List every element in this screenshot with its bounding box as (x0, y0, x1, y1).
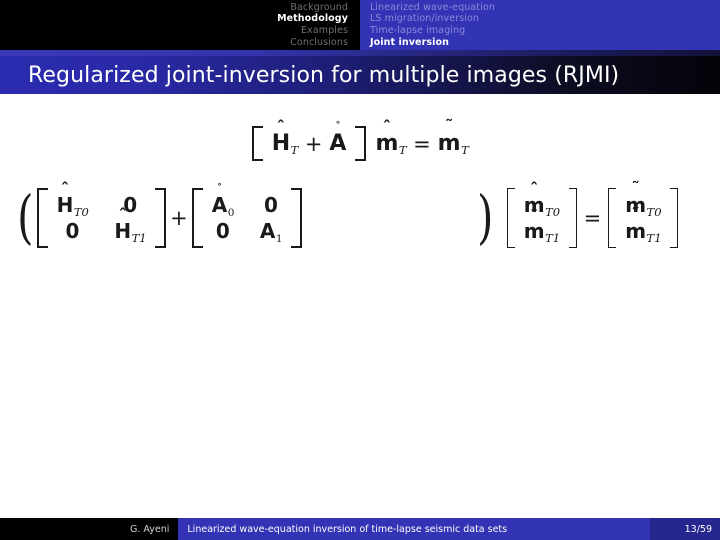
nav-sections-column: Background Methodology Examples Conclusi… (0, 0, 360, 50)
m-hat-symbol: ˆ m T (375, 131, 406, 156)
tilde-accent-icon: ˜ (631, 181, 640, 198)
nav-subsection-ls-migration-inversion[interactable]: LS migration/inversion (370, 13, 479, 25)
hat-accent-icon: ˆ (383, 120, 392, 137)
hat-accent-icon: ˆ (530, 182, 539, 199)
m-tilde-accented: ˜ m (625, 219, 646, 243)
equation-block-matrix-form: ( ˆ H T0 0 0 ˆ H T1 (0, 188, 720, 248)
vector-m-tilde: ˜ m T0 ˜ m T1 (608, 188, 678, 248)
header-navigation: Background Methodology Examples Conclusi… (0, 0, 720, 50)
equation-scalar-form: ˆ H T + ˚ A ˆ (0, 126, 720, 161)
ring-accent-icon: ˚ (265, 209, 271, 220)
cell-A-1: ˚ A 1 (260, 219, 282, 243)
subscript-T0: T0 (647, 205, 662, 219)
matrix-A: ˚ A 0 0 0 ˚ A 1 (192, 188, 302, 248)
A-accented: ˚ A (329, 131, 346, 156)
A-letter: A (329, 131, 346, 156)
vector-m-hat-cells: ˆ m T0 ˆ m T1 (515, 188, 569, 248)
subscript-T0: T0 (74, 205, 89, 219)
nav-section-methodology[interactable]: Methodology (277, 13, 348, 25)
tilde-accent-icon: ˜ (631, 207, 640, 224)
nav-subsections-column: Linearized wave-equation LS migration/in… (360, 0, 720, 50)
cell-H-T0: ˆ H T0 (57, 193, 89, 217)
matrix-A-right-bracket-icon (291, 188, 302, 248)
equation-scalar-row: ˆ H T + ˚ A ˆ (252, 126, 469, 161)
cell-m-tilde-T1: ˜ m T1 (625, 219, 661, 243)
vector-m-hat-right-bracket-icon (569, 188, 577, 248)
subscript-1: 1 (276, 233, 283, 245)
cell-zero-bottom-left: 0 (216, 219, 230, 243)
page-title: Regularized joint-inversion for multiple… (0, 63, 619, 88)
m-hat-subscript: T (399, 143, 407, 157)
vector-m-tilde-cells: ˜ m T0 ˜ m T1 (616, 188, 670, 248)
vector-m-hat-left-bracket-icon (507, 188, 515, 248)
nav-section-background[interactable]: Background (290, 2, 348, 14)
matrix-A-cells: ˚ A 0 0 0 ˚ A 1 (203, 188, 291, 248)
vector-m-tilde-right-bracket-icon (670, 188, 678, 248)
A-ring-symbol: ˚ A (329, 131, 346, 156)
subscript-T1: T1 (647, 231, 662, 245)
nav-subsection-time-lapse-imaging[interactable]: Time-lapse imaging (370, 25, 465, 37)
hat-accent-icon: ˆ (119, 208, 128, 225)
hat-accent-icon: ˆ (530, 208, 539, 225)
m-hat-accented: ˆ m (524, 219, 545, 243)
H-hat-symbol: ˆ H T (272, 131, 298, 156)
m-tilde-subscript: T (461, 143, 469, 157)
nav-section-examples[interactable]: Examples (301, 25, 348, 37)
H-plus-A-group: ˆ H T + ˚ A (272, 131, 347, 156)
footer-presentation-title: Linearized wave-equation inversion of ti… (178, 518, 650, 540)
footer-author: G. Ayeni (130, 518, 178, 540)
m-hat-accented: ˆ m (375, 131, 398, 156)
cell-H-T1: ˆ H T1 (114, 219, 146, 243)
matrix-H: ˆ H T0 0 0 ˆ H T1 (37, 188, 167, 248)
tilde-accent-icon: ˜ (445, 119, 454, 136)
bracket-contents: ˆ H T + ˚ A (263, 126, 356, 161)
footer-left-filler (0, 518, 130, 540)
footer-page-number: 13/59 (650, 518, 720, 540)
nav-subsection-linearized-wave-equation[interactable]: Linearized wave-equation (370, 2, 495, 14)
cell-zero-bottom-left: 0 (66, 219, 80, 243)
matrix-H-right-bracket-icon (155, 188, 166, 248)
H-accented: ˆ H (57, 193, 74, 217)
H-accented: ˆ H (272, 131, 290, 156)
vector-m-tilde-left-bracket-icon (608, 188, 616, 248)
m-tilde-symbol: ˜ m T (438, 131, 469, 156)
matrix-H-left-bracket-icon (37, 188, 48, 248)
slide-content: ˆ H T + ˚ A ˆ (0, 94, 720, 518)
m-tilde-accented: ˜ m (438, 131, 461, 156)
slide-title-bar: Regularized joint-inversion for multiple… (0, 56, 720, 94)
right-bracket-icon (355, 126, 366, 161)
slide-footer: G. Ayeni Linearized wave-equation invers… (0, 518, 720, 540)
H-accented: ˆ H (114, 219, 131, 243)
subscript-0: 0 (228, 207, 235, 219)
subscript-T1: T1 (545, 231, 560, 245)
H-subscript: T (291, 143, 299, 157)
hat-accent-icon: ˆ (61, 182, 70, 199)
close-paren-icon: ) (477, 197, 493, 239)
cell-m-hat-T1: ˆ m T1 (524, 219, 560, 243)
subscript-T0: T0 (545, 205, 560, 219)
nav-subsection-joint-inversion[interactable]: Joint inversion (370, 37, 449, 49)
plus-operator: + (298, 132, 330, 156)
A-accented: ˚ A (212, 193, 227, 217)
subscript-T1: T1 (132, 231, 147, 245)
open-paren-icon: ( (17, 197, 33, 239)
ring-accent-icon: ˚ (217, 183, 223, 194)
cell-A-0: ˚ A 0 (212, 193, 234, 217)
A-letter: A (260, 219, 275, 243)
matrix-A-left-bracket-icon (192, 188, 203, 248)
nav-section-conclusions[interactable]: Conclusions (290, 37, 348, 49)
ring-accent-icon: ˚ (335, 121, 341, 132)
equals-operator: = (406, 132, 438, 156)
A-letter: A (212, 193, 227, 217)
hat-accent-icon: ˆ (277, 120, 286, 137)
matrix-equals-operator: = (577, 206, 609, 230)
A-accented: ˚ A (260, 219, 275, 243)
matrix-H-cells: ˆ H T0 0 0 ˆ H T1 (48, 188, 156, 248)
left-bracket-icon (252, 126, 263, 161)
matrix-plus-operator: + (166, 206, 192, 230)
vector-m-hat: ˆ m T0 ˆ m T1 (507, 188, 577, 248)
